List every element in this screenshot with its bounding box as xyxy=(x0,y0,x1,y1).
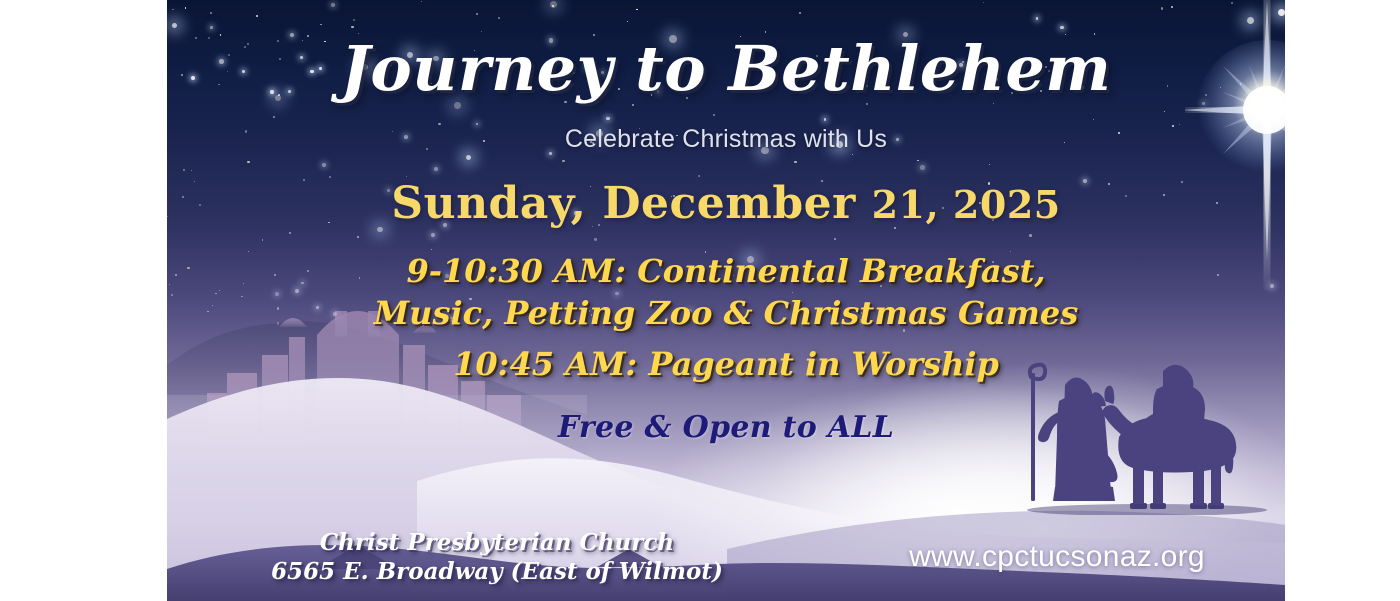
subtitle: Celebrate Christmas with Us xyxy=(167,125,1285,154)
church-info: Christ Presbyterian Church 6565 E. Broad… xyxy=(217,528,777,587)
event-date-main: Sunday, December xyxy=(391,178,855,229)
event-line-2: Music, Petting Zoo & Christmas Games xyxy=(167,292,1285,334)
page-title: Journey to Bethlehem xyxy=(167,36,1285,101)
christmas-flyer-image: Journey to Bethlehem Celebrate Christmas… xyxy=(167,0,1285,601)
event-schedule-morning: 9-10:30 AM: Continental Breakfast, Music… xyxy=(167,250,1285,334)
event-date-year: 21, 2025 xyxy=(872,182,1061,227)
event-schedule-pageant: 10:45 AM: Pageant in Worship xyxy=(167,343,1285,385)
event-line-3: 10:45 AM: Pageant in Worship xyxy=(167,343,1285,385)
event-date: Sunday, December 21, 2025 xyxy=(167,182,1285,226)
church-address: 6565 E. Broadway (East of Wilmot) xyxy=(217,557,777,586)
free-admission-note: Free & Open to ALL xyxy=(167,410,1285,445)
church-name: Christ Presbyterian Church xyxy=(217,528,777,557)
website-url[interactable]: www.cpctucsonaz.org xyxy=(867,540,1247,574)
flyer-text-layer: Journey to Bethlehem Celebrate Christmas… xyxy=(167,0,1285,601)
poster-root: Journey to Bethlehem Celebrate Christmas… xyxy=(0,0,1400,601)
event-line-1: 9-10:30 AM: Continental Breakfast, xyxy=(167,250,1285,292)
